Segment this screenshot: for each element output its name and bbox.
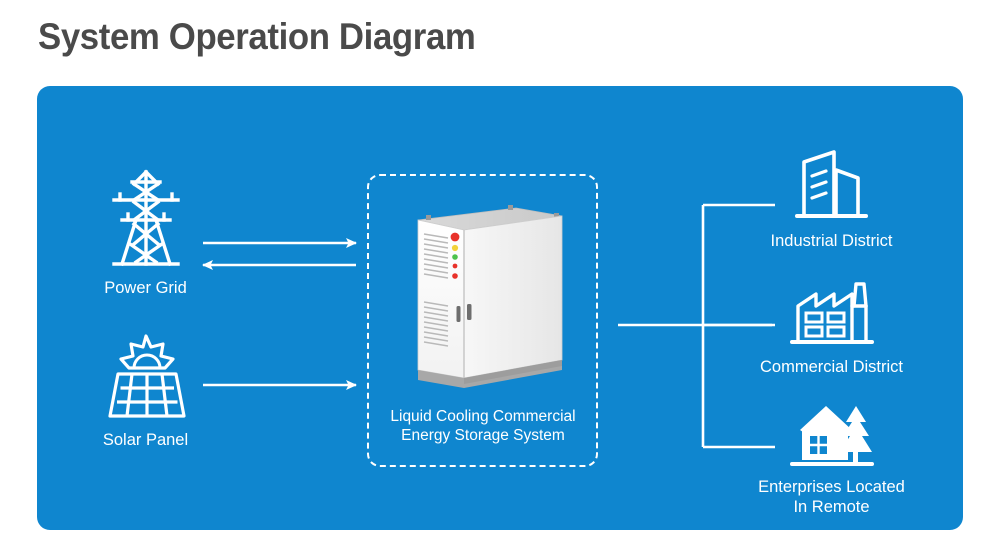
caption-line-1: Liquid Cooling Commercial xyxy=(372,407,594,426)
house-tree-icon xyxy=(724,392,939,470)
energy-storage-caption: Liquid Cooling Commercial Energy Storage… xyxy=(372,407,594,445)
energy-storage-cabinet-icon xyxy=(396,198,568,396)
source-node-solar-panel[interactable]: Solar Panel xyxy=(78,330,213,460)
solar-panel-icon xyxy=(78,330,213,422)
diagram-canvas: System Operation Diagram xyxy=(0,0,999,549)
factory-icon xyxy=(724,272,939,350)
load-label-commercial-district: Commercial District xyxy=(724,357,939,377)
caption-line-2: Energy Storage System xyxy=(372,426,594,445)
source-label-power-grid: Power Grid xyxy=(78,278,213,298)
load-node-commercial-district[interactable]: Commercial District xyxy=(724,272,939,377)
load-node-enterprises-remote[interactable]: Enterprises Located In Remote xyxy=(724,392,939,517)
load-label-line-1: Enterprises Located xyxy=(724,477,939,497)
load-label-enterprises-remote: Enterprises Located In Remote xyxy=(724,477,939,517)
page-title: System Operation Diagram xyxy=(38,16,475,58)
office-buildings-icon xyxy=(724,146,939,224)
load-label-line-2: In Remote xyxy=(724,497,939,517)
source-label-solar-panel: Solar Panel xyxy=(78,430,213,450)
transmission-tower-icon xyxy=(78,168,213,268)
load-node-industrial-district[interactable]: Industrial District xyxy=(724,146,939,251)
source-node-power-grid[interactable]: Power Grid xyxy=(78,168,213,308)
load-label-industrial-district: Industrial District xyxy=(724,231,939,251)
